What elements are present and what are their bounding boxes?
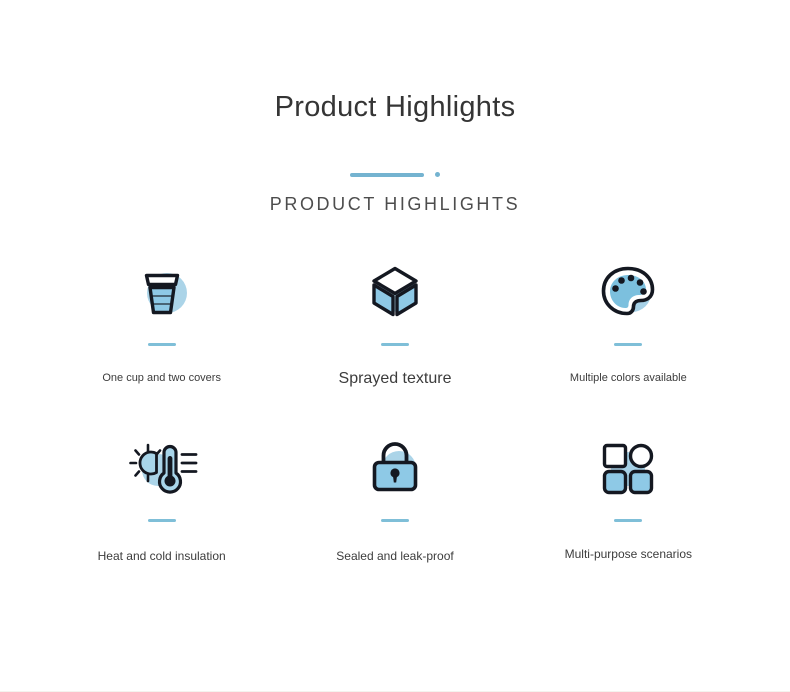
feature-item-multi-purpose-scenarios[interactable]: Multi-purpose scenarios xyxy=(512,433,745,611)
feature-label: Heat and cold insulation xyxy=(98,549,226,565)
padlock-icon xyxy=(278,433,511,503)
coffee-cup-icon xyxy=(45,255,278,327)
feature-item-heat-cold-insulation[interactable]: Heat and cold insulation xyxy=(45,433,278,611)
divider-dot-icon xyxy=(435,172,440,177)
page-header: Product Highlights PRODUCT HIGHLIGHTS xyxy=(0,0,790,215)
page-title: Product Highlights xyxy=(0,90,790,125)
feature-label: Sprayed texture xyxy=(339,369,452,390)
feature-item-sprayed-texture[interactable]: Sprayed texture xyxy=(278,255,511,433)
feature-label: Multi-purpose scenarios xyxy=(565,547,692,563)
cube-box-icon xyxy=(278,255,511,327)
title-divider xyxy=(0,170,790,180)
divider-line-icon xyxy=(350,173,424,177)
feature-accent-bar xyxy=(614,519,642,522)
page-subtitle: PRODUCT HIGHLIGHTS xyxy=(0,194,790,216)
thermometer-sun-icon xyxy=(45,433,278,503)
feature-accent-bar xyxy=(148,519,176,522)
feature-label: Multiple colors available xyxy=(570,371,687,385)
four-shapes-grid-icon xyxy=(512,433,745,503)
feature-label: Sealed and leak-proof xyxy=(336,549,453,565)
feature-grid: One cup and two covers Sprayed texture xyxy=(45,215,745,611)
feature-item-sealed-leak-proof[interactable]: Sealed and leak-proof xyxy=(278,433,511,611)
feature-item-multiple-colors[interactable]: Multiple colors available xyxy=(512,255,745,433)
feature-accent-bar xyxy=(381,519,409,522)
feature-accent-bar xyxy=(614,343,642,346)
paint-palette-icon xyxy=(512,255,745,327)
product-highlights-page: Product Highlights PRODUCT HIGHLIGHTS On… xyxy=(0,0,790,692)
feature-label: One cup and two covers xyxy=(102,371,221,385)
feature-accent-bar xyxy=(148,343,176,346)
feature-accent-bar xyxy=(381,343,409,346)
feature-item-one-cup-two-covers[interactable]: One cup and two covers xyxy=(45,255,278,433)
